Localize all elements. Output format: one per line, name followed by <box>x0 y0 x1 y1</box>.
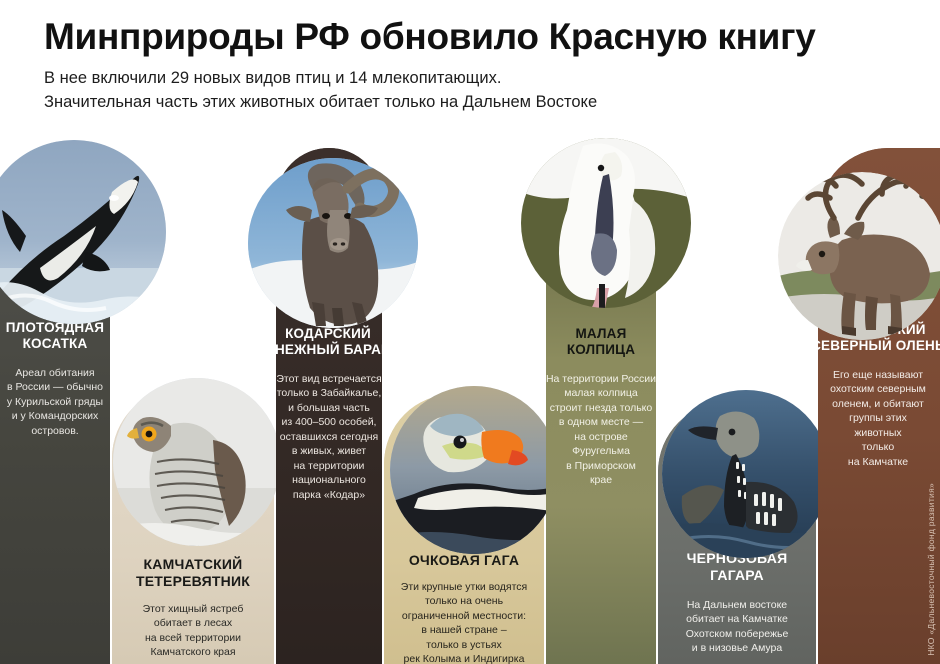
orca-photo-art <box>0 140 166 324</box>
card-goshawk-body-line: Этот хищный ястреб <box>118 602 268 616</box>
card-orca-body: Ареал обитания в России — обычно у Курил… <box>0 366 110 438</box>
reindeer-photo <box>778 172 940 340</box>
card-goshawk-body-line: обитает в лесах <box>118 616 268 630</box>
card-reindeer-body-line: на Камчатке <box>810 455 940 469</box>
card-goshawk-body-line: Камчатского края <box>118 645 268 659</box>
card-reindeer-body-line: животных <box>810 426 940 440</box>
card-spoonbill-body-line: На территории России <box>534 372 668 386</box>
card-spoonbill-body-line: Фуругельма <box>534 444 668 458</box>
goshawk-photo <box>113 378 281 546</box>
card-snow-sheep-title-line2: СНЕЖНЫЙ БАРАН <box>264 342 392 358</box>
card-spoonbill-body: На территории России малая колпица строи… <box>528 372 674 488</box>
card-reindeer-body-line: группы этих <box>810 411 940 425</box>
card-snow-sheep-body-line: на территории <box>268 459 390 473</box>
header: Минприроды РФ обновило Красную книгу В н… <box>0 0 940 130</box>
orca-photo <box>0 140 166 324</box>
card-snow-sheep-title-line1: КОДАРСКИЙ <box>264 326 392 342</box>
card-loon-body-line: На Дальнем востоке <box>664 598 810 612</box>
card-reindeer-body-line: охотским северным <box>810 382 940 396</box>
card-orca-body-line: Ареал обитания <box>6 366 104 380</box>
card-reindeer-body-line: Его еще называют <box>810 368 940 382</box>
card-snow-sheep-body-line: национального <box>268 473 390 487</box>
card-spoonbill-body-line: в одном месте — <box>534 415 668 429</box>
card-spoonbill-body-line: на острове <box>534 430 668 444</box>
card-snow-sheep-body-line: только в Забайкалье, <box>268 386 390 400</box>
card-goshawk-title: КАМЧАТСКИЙ ТЕТЕРЕВЯТНИК <box>112 556 274 589</box>
card-spoonbill-body-line: в Приморском <box>534 459 668 473</box>
card-snow-sheep-title: КОДАРСКИЙ СНЕЖНЫЙ БАРАН <box>260 326 396 358</box>
subtitle-line-2: Значительная часть этих животных обитает… <box>44 92 924 113</box>
card-loon-body-line: и в низовье Амура <box>664 641 810 655</box>
goshawk-photo-art <box>113 378 281 546</box>
spoonbill-photo-art <box>521 138 691 308</box>
card-spoonbill-title: МАЛАЯ КОЛПИЦА <box>546 326 656 358</box>
card-eider-title-line1: ОЧКОВАЯ ГАГА <box>388 552 540 569</box>
card-eider-title: ОЧКОВАЯ ГАГА <box>384 552 544 569</box>
card-spoonbill-body-line: крае <box>534 473 668 487</box>
card-eider-body-line: только в устьях <box>386 638 542 652</box>
card-snow-sheep-body-line: в живых, живет <box>268 444 390 458</box>
card-eider-body-line: только на очень <box>386 594 542 608</box>
card-loon-title-line2: ГАГАРА <box>662 567 812 584</box>
subtitle-line-1: В нее включили 29 новых видов птиц и 14 … <box>44 68 924 89</box>
card-reindeer-title-line2: СЕВЕРНЫЙ ОЛЕНЬ <box>806 338 940 354</box>
card-orca-title: ПЛОТОЯДНАЯ КОСАТКА <box>0 320 110 352</box>
card-loon-body-line: обитает на Камчатке <box>664 612 810 626</box>
card-spoonbill-body-line: малая колпица <box>534 386 668 400</box>
card-goshawk-title-line1: КАМЧАТСКИЙ <box>116 556 270 573</box>
card-eider-body: Эти крупные утки водятся только на очень… <box>384 580 544 664</box>
card-snow-sheep-body-line: парка «Кодар» <box>268 488 390 502</box>
reindeer-photo-art <box>778 172 940 340</box>
card-snow-sheep-body: Этот вид встречается только в Забайкалье… <box>262 372 396 502</box>
card-orca-body-line: у Курильской гряды <box>6 395 104 409</box>
card-eider-body-line: Эти крупные утки водятся <box>386 580 542 594</box>
card-goshawk-title-line2: ТЕТЕРЕВЯТНИК <box>116 573 270 590</box>
card-reindeer-body-line: только <box>810 440 940 454</box>
card-spoonbill-body-line: строит гнезда только <box>534 401 668 415</box>
card-snow-sheep-body-line: оставшихся сегодня <box>268 430 390 444</box>
card-reindeer-body: Его еще называют охотским северным олене… <box>804 368 940 469</box>
card-spoonbill-title-line1: МАЛАЯ <box>550 326 652 342</box>
snow-sheep-photo-art <box>248 158 418 328</box>
card-spoonbill-title-line2: КОЛПИЦА <box>550 342 652 358</box>
card-loon-body-line: Охотском побережье <box>664 627 810 641</box>
card-snow-sheep-body-line: из 400–500 особей, <box>268 415 390 429</box>
card-orca-body-line: и у Командорских <box>6 409 104 423</box>
card-loon-body: На Дальнем востоке обитает на Камчатке О… <box>658 598 816 656</box>
infographic-page: Минприроды РФ обновило Красную книгу В н… <box>0 0 940 664</box>
card-goshawk-body: Этот хищный ястреб обитает в лесах на вс… <box>112 602 274 660</box>
card-eider-body-line: ограниченной местности: <box>386 609 542 623</box>
card-eider-body-line: в нашей стране – <box>386 623 542 637</box>
card-orca-body-line: в России — обычно <box>6 380 104 394</box>
card-goshawk-body-line: на всей территории <box>118 631 268 645</box>
card-eider-body-line: рек Колыма и Индигирка <box>386 652 542 664</box>
card-snow-sheep-body-line: и большая часть <box>268 401 390 415</box>
credit-text: НКО «Дальневосточный фонд развития» <box>926 483 936 656</box>
snow-sheep-photo <box>248 158 418 328</box>
card-snow-sheep-body-line: Этот вид встречается <box>268 372 390 386</box>
card-orca-body-line: островов. <box>6 424 104 438</box>
page-title: Минприроды РФ обновило Красную книгу <box>44 16 904 57</box>
spoonbill-photo <box>521 138 691 308</box>
card-orca-title-line2: КОСАТКА <box>4 336 106 352</box>
card-reindeer-body-line: оленем, и обитают <box>810 397 940 411</box>
